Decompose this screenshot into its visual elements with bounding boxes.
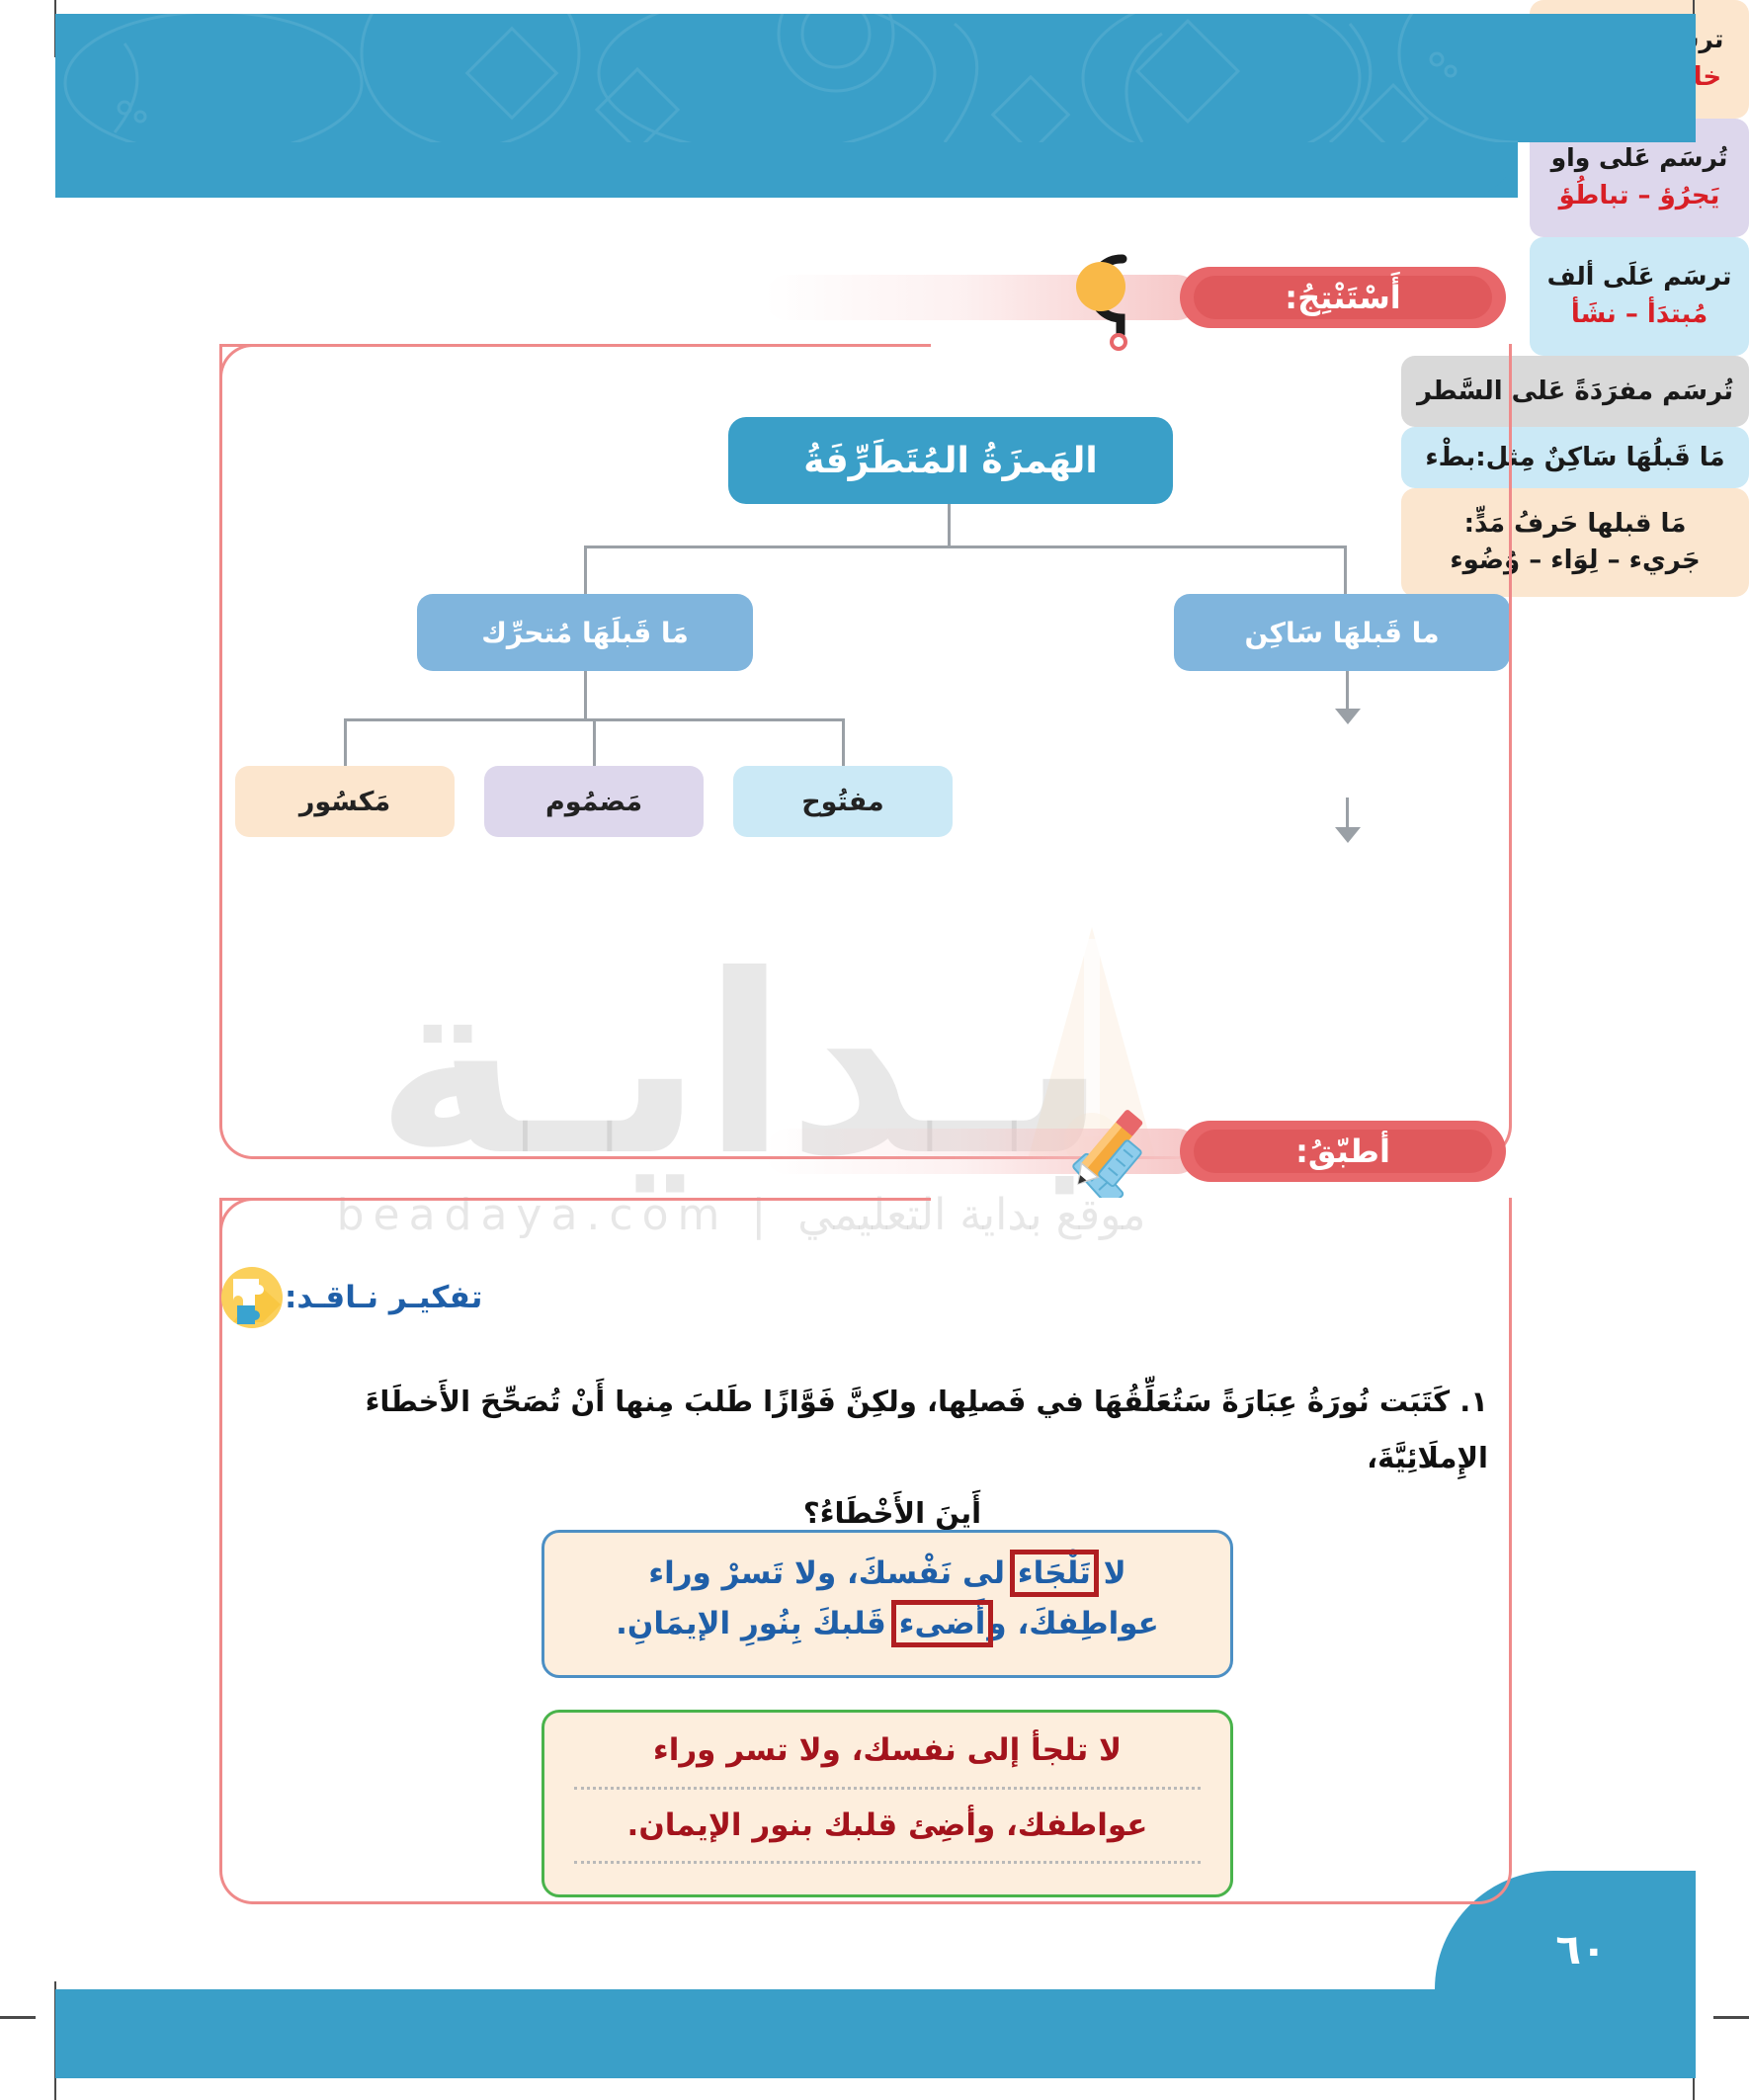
- errors-line-2: عواطِفكَ، وأَضىء قَلبكَ بِنُورِ الإيمَان…: [566, 1599, 1208, 1649]
- lightbulb-question-icon: [1061, 243, 1150, 352]
- puzzle-piece-icon: [219, 1265, 285, 1330]
- connector-to-left-branch: [584, 546, 587, 594]
- apply-frame-top-edge: [219, 1198, 931, 1201]
- connector-main-vertical: [948, 504, 951, 546]
- page-footer-band: [55, 1989, 1696, 2078]
- question-number: ١.: [1459, 1374, 1488, 1430]
- detail-rule-madmum: تُرسَم عَلى واو: [1551, 140, 1728, 176]
- errors-line1-part-b: لى نَفْسكَ، ولا تَسرْ وراء: [648, 1555, 1016, 1591]
- arrow-right-2-icon: [1335, 827, 1361, 843]
- diagram-detail-maftuh: ترسَم عَلَى ألف مُبتدَأ – نشَأ: [1530, 237, 1749, 356]
- detail-examples-madmum: يَجرُؤ – تباطُؤ: [1559, 178, 1720, 215]
- conclude-label: أَسْتَنْتِجُ:: [1285, 279, 1400, 316]
- connector-cat-maksur: [344, 718, 347, 766]
- conclude-frame: [219, 344, 1512, 1159]
- conclude-header: أَسْتَنْتِجُ:: [219, 267, 1506, 328]
- critical-thinking-label: تفكيـر نـاقـد:: [285, 1280, 482, 1315]
- ornament-pattern-icon: [55, 14, 1696, 142]
- connector-right-down-1: [1346, 671, 1349, 711]
- apply-label: أطبّقُ:: [1295, 1133, 1390, 1170]
- connector-cat-madmum: [593, 718, 596, 766]
- writing-line-2: [574, 1860, 1201, 1864]
- page-header-band-right: [1518, 14, 1696, 142]
- sentence-with-errors-box: لا تَلْجَاء لى نَفْسكَ، ولا تَسرْ وراء ع…: [541, 1530, 1233, 1678]
- conclude-frame-top-edge: [219, 344, 931, 347]
- pencil-ruler-icon: [1055, 1099, 1158, 1198]
- corrected-answer-box[interactable]: لا تلجأ إلى نفسك، ولا تسر وراء عواطفك، و…: [541, 1710, 1233, 1897]
- errors-line2-part-a: عواطِفكَ، و: [987, 1606, 1158, 1641]
- errors-line2-part-b: قَلبكَ بِنُورِ الإيمَانِ.: [616, 1606, 896, 1641]
- question-line-1: كَتَبَت نُورَةُ عِبَارَةً سَتُعَلِّقُهَا…: [366, 1385, 1488, 1474]
- apply-header: أطبّقُ:: [219, 1121, 1506, 1182]
- errors-line-1: لا تَلْجَاء لى نَفْسكَ، ولا تَسرْ وراء: [566, 1549, 1208, 1599]
- connector-cat-maftuh: [842, 718, 845, 766]
- writing-line-1: [574, 1786, 1201, 1790]
- arrow-right-1-icon: [1335, 709, 1361, 724]
- apply-pill: أطبّقُ:: [1180, 1121, 1506, 1182]
- crop-mark-right: [1713, 2016, 1749, 2019]
- connector-left-branch-down: [584, 671, 587, 718]
- page-header-band: [55, 14, 1696, 142]
- critical-thinking-row: تفكيـر نـاقـد:: [219, 1243, 1506, 1352]
- error-highlight-1: تَلْجَاء: [1016, 1555, 1093, 1591]
- connector-right-down-2: [1346, 798, 1349, 829]
- page-number: ٦٠: [1522, 1925, 1640, 1974]
- connector-main-horizontal: [585, 546, 1346, 548]
- question-block: ١. كَتَبَت نُورَةُ عِبَارَةً سَتُعَلِّقُ…: [296, 1374, 1488, 1542]
- error-highlight-2: أَضىء: [897, 1606, 988, 1641]
- correct-line-2: عواطفك، وأضِئ قلبك بنور الإيمان.: [568, 1802, 1207, 1851]
- detail-rule-maftuh: ترسَم عَلَى ألف: [1547, 259, 1732, 294]
- conclude-pill: أَسْتَنْتِجُ:: [1180, 267, 1506, 328]
- correct-line-1: لا تلجأ إلى نفسك، ولا تسر وراء: [568, 1726, 1207, 1776]
- connector-to-right-branch: [1344, 546, 1347, 594]
- errors-line1-part-a: لا: [1093, 1555, 1126, 1591]
- detail-examples-maftuh: مُبتدَأ – نشَأ: [1571, 296, 1707, 334]
- textbook-page: بـدايـة beadaya.com | موقع بداية التعليم…: [0, 0, 1749, 2100]
- crop-mark-left: [0, 2016, 36, 2019]
- page-header-band-lower: [55, 142, 1518, 198]
